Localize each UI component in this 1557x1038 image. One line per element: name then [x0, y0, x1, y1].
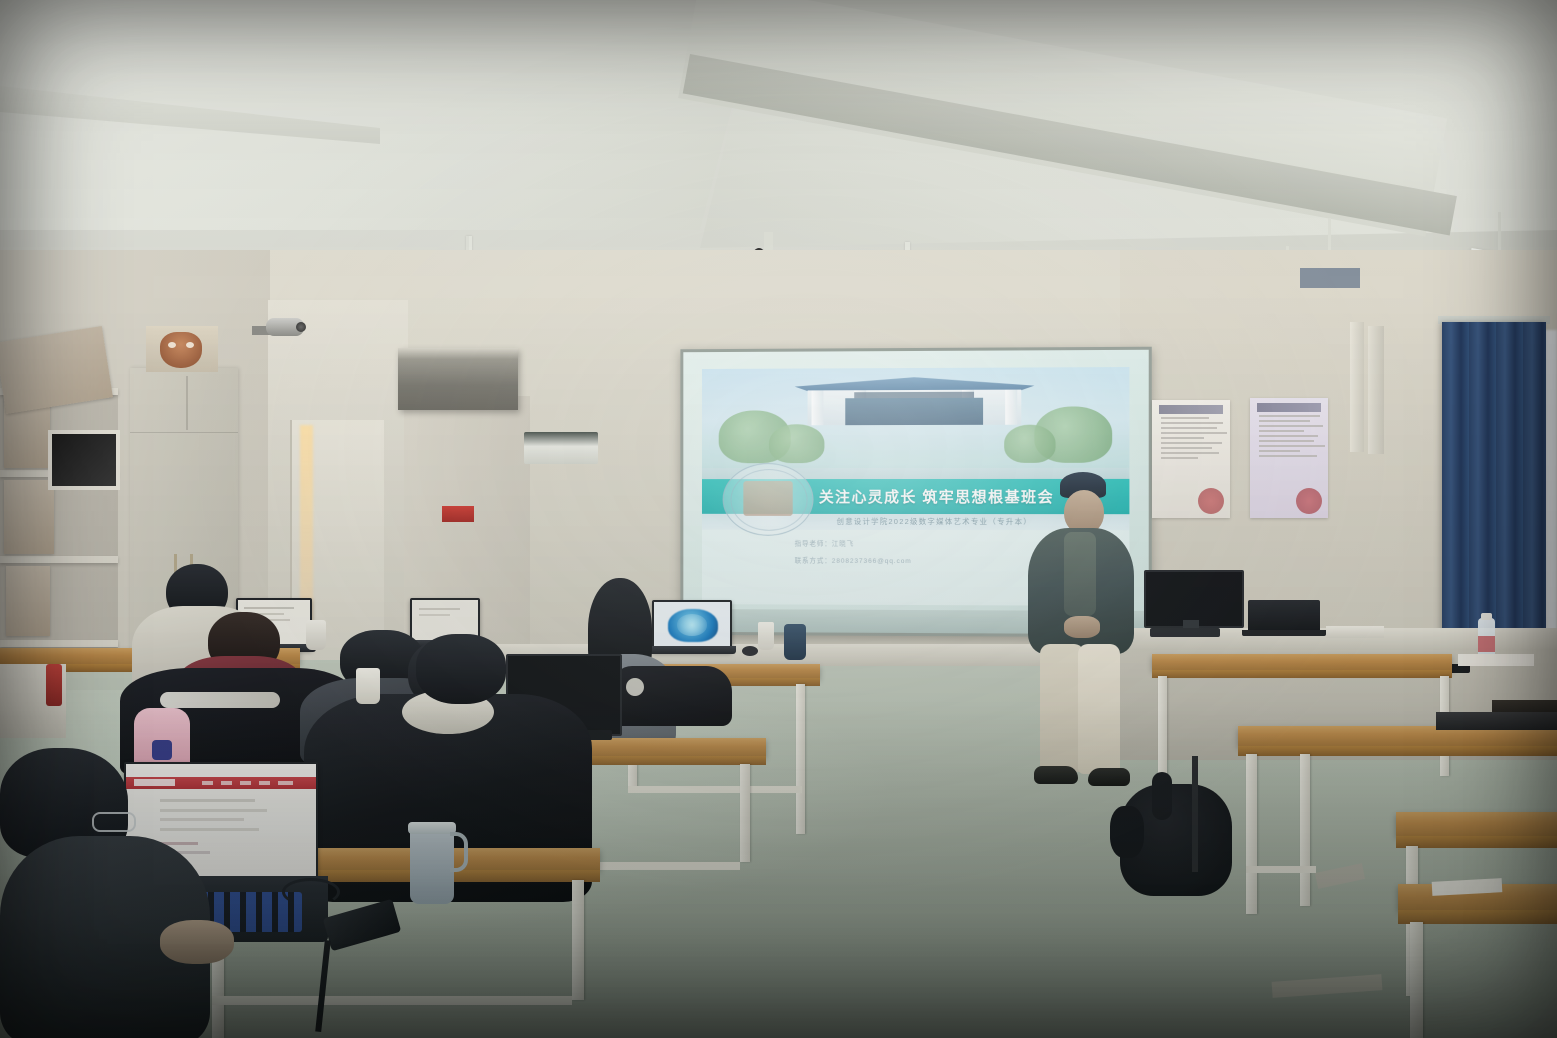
red-wall-sign	[442, 506, 474, 522]
desk-leg	[796, 684, 805, 834]
teacher-desk-laptop	[1248, 600, 1320, 632]
blue-travel-cup	[784, 624, 806, 660]
water-bottle-label	[1478, 636, 1495, 652]
bag-logo-icon	[626, 678, 644, 696]
desk-edge	[1396, 836, 1557, 848]
shelf-artwork	[6, 566, 50, 636]
student-bag-on-desk	[612, 666, 732, 726]
shelf-artwork	[4, 480, 54, 554]
student-hand	[160, 920, 234, 964]
blue-travel-cup	[410, 826, 454, 904]
cup-handle	[450, 832, 468, 872]
water-bottle-cap	[1481, 613, 1492, 620]
cup-lid	[408, 822, 456, 834]
desk-rail	[628, 786, 802, 793]
keyboard-teacher	[1150, 628, 1220, 637]
presenter-shoe-right	[1088, 768, 1130, 786]
framed-photo	[48, 430, 120, 490]
varsity-script-text	[160, 692, 280, 708]
university-crest-icon	[723, 463, 814, 536]
camera-lens-icon	[296, 322, 306, 332]
rolled-paper	[1368, 326, 1384, 454]
desk-leg	[1300, 754, 1310, 906]
presenter-shoe-left	[1034, 766, 1078, 784]
papers-stack	[1326, 626, 1384, 638]
charging-cable	[282, 878, 340, 906]
backpack-side-pocket	[1110, 806, 1144, 858]
decorative-mask	[160, 332, 202, 368]
slide-title: 关注心灵成长 筑牢思想根基班会	[775, 486, 1054, 507]
floor-cable	[1192, 756, 1198, 872]
backpack-strap	[1152, 772, 1172, 820]
eyeglasses-icon	[92, 812, 136, 832]
slide-subtitle: 创意设计学院2022级数字媒体艺术专业（专升本）	[797, 516, 1032, 527]
desk-leg	[572, 880, 584, 1000]
display-shelf	[0, 388, 118, 658]
desk-leg	[1246, 754, 1257, 914]
red-bottle	[46, 664, 62, 706]
rolled-paper	[1350, 322, 1364, 452]
desk-rail	[212, 996, 572, 1005]
curtain-top-fold	[1300, 268, 1360, 288]
wall-ac-vent	[524, 432, 598, 464]
desk-rail	[1246, 866, 1316, 873]
desk-top	[1152, 654, 1452, 670]
desk-edge	[1238, 746, 1557, 756]
wall-air-conditioner	[398, 348, 518, 410]
presenter-hands	[1064, 616, 1100, 638]
desk-leg	[1410, 922, 1423, 1038]
chair-seat	[1436, 712, 1557, 730]
notice-poster-left	[1152, 400, 1230, 518]
desk-edge	[1152, 670, 1452, 678]
varsity-patch-icon	[152, 740, 172, 760]
notice-poster-right	[1250, 398, 1328, 518]
classroom-photo: 关注心灵成长 筑牢思想根基班会 创意设计学院2022级数字媒体艺术专业（专升本）…	[0, 0, 1557, 1038]
mouse[interactable]	[742, 646, 758, 656]
desk-top	[1396, 812, 1557, 836]
presenter-jacket-inner	[1064, 532, 1096, 616]
mask-eye-icon	[168, 342, 176, 348]
red-seal-icon	[1198, 488, 1224, 514]
mask-eye-icon	[186, 342, 194, 348]
white-paper-cup	[306, 620, 326, 650]
red-seal-icon	[1296, 488, 1322, 514]
laptop-windows11-wallpaper[interactable]	[652, 600, 732, 652]
laptop-base	[644, 646, 736, 654]
presenter-pants-right	[1078, 644, 1120, 774]
desk-leg	[740, 764, 750, 862]
paper-sheet	[1458, 654, 1534, 666]
white-paper-cup	[758, 622, 774, 650]
white-paper-cup	[356, 668, 380, 704]
teacher-laptop-base	[1242, 630, 1326, 636]
student-hair	[416, 634, 506, 704]
